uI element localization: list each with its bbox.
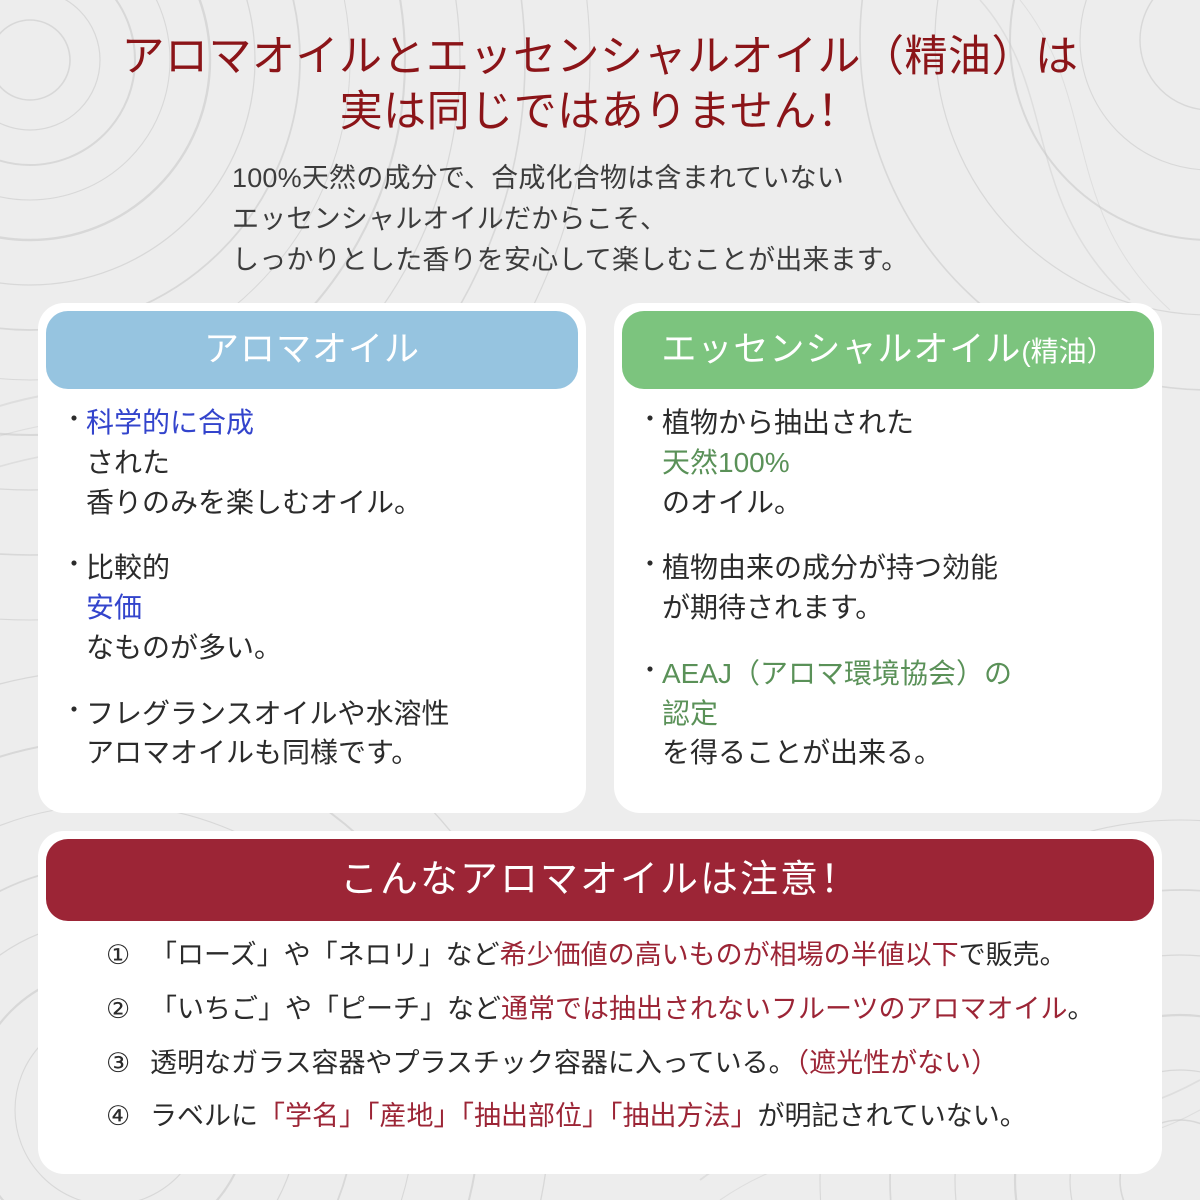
- plain-text: アロマオイルも同様です。: [86, 733, 568, 773]
- bullet-item: ・AEAJ（アロマ環境協会）の認定を得ることが出来る。: [638, 654, 1144, 773]
- bullet-marker-icon: ・: [62, 403, 86, 437]
- page-title-line2: 実は同じではありません！: [0, 85, 1200, 140]
- lead-line-1: 100%天然の成分で、合成化合物は含まれていない: [232, 158, 1200, 199]
- card-aroma-oil-bullets: ・科学的に合成された香りのみを楽しむオイル。・比較的安価なものが多い。・フレグラ…: [46, 389, 578, 773]
- bullet-item: ・科学的に合成された香りのみを楽しむオイル。: [62, 403, 568, 522]
- bullet-text: AEAJ（アロマ環境協会）の認定を得ることが出来る。: [662, 654, 1144, 773]
- highlight-text: 「学名」「産地」「抽出部位」「抽出方法」: [258, 1101, 758, 1131]
- card-essential-oil-bullets: ・植物から抽出された天然100%のオイル。・植物由来の成分が持つ効能が期待されま…: [622, 389, 1154, 773]
- plain-text: 透明なガラス容器やプラスチック容器に入っている。: [150, 1048, 796, 1078]
- card-essential-oil-header: エッセンシャルオイル(精油）: [622, 311, 1154, 389]
- highlight-text: AEAJ（アロマ環境協会）の: [662, 654, 1144, 694]
- plain-text: された: [86, 443, 568, 483]
- card-aroma-oil-header: アロマオイル: [46, 311, 578, 389]
- card-essential-oil-header-sub: (精油）: [1021, 336, 1114, 367]
- bullet-item: ・植物由来の成分が持つ効能が期待されます。: [638, 548, 1144, 628]
- bullet-text: フレグランスオイルや水溶性アロマオイルも同様です。: [86, 694, 568, 774]
- plain-text: を得ることが出来る。: [662, 733, 1144, 773]
- bullet-marker-icon: ・: [638, 548, 662, 582]
- bullet-item: ・フレグランスオイルや水溶性アロマオイルも同様です。: [62, 694, 568, 774]
- highlight-text: 安価: [86, 588, 568, 628]
- plain-text: なものが多い。: [86, 628, 568, 668]
- bullet-text-line: 植物由来の成分が持つ効能: [662, 548, 1144, 588]
- warning-item-number: ③: [106, 1047, 150, 1081]
- plain-text: 植物から抽出された: [662, 403, 1144, 443]
- bullet-text-line: AEAJ（アロマ環境協会）の: [662, 654, 1144, 694]
- bullet-text-line: 香りのみを楽しむオイル。: [86, 483, 568, 523]
- warning-list-item: ③透明なガラス容器やプラスチック容器に入っている。（遮光性がない）: [106, 1047, 1128, 1081]
- warning-panel-header: こんなアロマオイルは注意！: [46, 839, 1154, 921]
- warning-list: ①「ローズ」や「ネロリ」など希少価値の高いものが相場の半値以下で販売。②「いちご…: [46, 921, 1154, 1134]
- plain-text: が明記されていない。: [758, 1101, 1027, 1131]
- bullet-text-line: アロマオイルも同様です。: [86, 733, 568, 773]
- warning-item-number: ②: [106, 993, 150, 1027]
- card-essential-oil-header-label: エッセンシャルオイル: [661, 330, 1021, 369]
- plain-text: 香りのみを楽しむオイル。: [86, 483, 568, 523]
- bullet-text: 植物から抽出された天然100%のオイル。: [662, 403, 1144, 522]
- bullet-text-line: 天然100%のオイル。: [662, 443, 1144, 523]
- card-essential-oil: エッセンシャルオイル(精油） ・植物から抽出された天然100%のオイル。・植物由…: [614, 303, 1162, 813]
- lead-line-3: しっかりとした香りを安心して楽しむことが出来ます。: [232, 240, 1200, 281]
- warning-item-text: ラベルに「学名」「産地」「抽出部位」「抽出方法」が明記されていない。: [150, 1100, 1027, 1134]
- bullet-text-line: が期待されます。: [662, 588, 1144, 628]
- warning-panel: こんなアロマオイルは注意！ ①「ローズ」や「ネロリ」など希少価値の高いものが相場…: [38, 831, 1162, 1174]
- bullet-item: ・比較的安価なものが多い。: [62, 548, 568, 667]
- plain-text: ラベルに: [150, 1101, 258, 1131]
- bullet-marker-icon: ・: [638, 654, 662, 688]
- plain-text: で販売。: [959, 940, 1067, 970]
- plain-text: 比較的: [86, 548, 568, 588]
- highlight-text: 認定: [662, 694, 1144, 734]
- plain-text: 植物由来の成分が持つ効能: [662, 548, 1144, 588]
- bullet-text-line: フレグランスオイルや水溶性: [86, 694, 568, 734]
- bullet-text-line: 科学的に合成された: [86, 403, 568, 483]
- page-title-line1: アロマオイルとエッセンシャルオイル（精油）は: [122, 34, 1079, 81]
- plain-text: 「ローズ」や「ネロリ」など: [150, 940, 500, 970]
- infographic-page: アロマオイルとエッセンシャルオイル（精油）は 実は同じではありません！ 100%…: [0, 0, 1200, 1200]
- highlight-text: 希少価値の高いものが相場の半値以下: [500, 940, 959, 970]
- comparison-cards: アロマオイル ・科学的に合成された香りのみを楽しむオイル。・比較的安価なものが多…: [0, 303, 1200, 813]
- bullet-text: 比較的安価なものが多い。: [86, 548, 568, 667]
- lead-paragraph: 100%天然の成分で、合成化合物は含まれていない エッセンシャルオイルだからこそ…: [0, 158, 1200, 281]
- bullet-text-line: 植物から抽出された: [662, 403, 1144, 443]
- page-title: アロマオイルとエッセンシャルオイル（精油）は 実は同じではありません！: [0, 0, 1200, 140]
- card-aroma-oil: アロマオイル ・科学的に合成された香りのみを楽しむオイル。・比較的安価なものが多…: [38, 303, 586, 813]
- warning-list-item: ②「いちご」や「ピーチ」など通常では抽出されないフルーツのアロマオイル。: [106, 993, 1128, 1027]
- bullet-text-line: 比較的安価なものが多い。: [86, 548, 568, 667]
- warning-list-item: ④ラベルに「学名」「産地」「抽出部位」「抽出方法」が明記されていない。: [106, 1100, 1128, 1134]
- warning-item-number: ④: [106, 1100, 150, 1134]
- highlight-text: 天然100%: [662, 443, 1144, 483]
- warning-item-text: 「いちご」や「ピーチ」など通常では抽出されないフルーツのアロマオイル。: [150, 993, 1094, 1027]
- highlight-text: 通常では抽出されないフルーツのアロマオイル: [501, 994, 1067, 1024]
- highlight-text: （遮光性がない）: [796, 1048, 999, 1078]
- plain-text: のオイル。: [662, 483, 1144, 523]
- plain-text: 。: [1067, 994, 1094, 1024]
- plain-text: フレグランスオイルや水溶性: [86, 694, 568, 734]
- bullet-text: 科学的に合成された香りのみを楽しむオイル。: [86, 403, 568, 522]
- card-aroma-oil-header-label: アロマオイル: [204, 330, 420, 369]
- plain-text: が期待されます。: [662, 588, 1144, 628]
- bullet-marker-icon: ・: [62, 548, 86, 582]
- warning-item-text: 「ローズ」や「ネロリ」など希少価値の高いものが相場の半値以下で販売。: [150, 939, 1067, 973]
- bullet-text: 植物由来の成分が持つ効能が期待されます。: [662, 548, 1144, 628]
- warning-list-item: ①「ローズ」や「ネロリ」など希少価値の高いものが相場の半値以下で販売。: [106, 939, 1128, 973]
- warning-item-number: ①: [106, 939, 150, 973]
- bullet-item: ・植物から抽出された天然100%のオイル。: [638, 403, 1144, 522]
- bullet-marker-icon: ・: [62, 694, 86, 728]
- plain-text: 「いちご」や「ピーチ」など: [150, 994, 501, 1024]
- highlight-text: 科学的に合成: [86, 403, 568, 443]
- warning-item-text: 透明なガラス容器やプラスチック容器に入っている。（遮光性がない）: [150, 1047, 998, 1081]
- bullet-text-line: 認定を得ることが出来る。: [662, 694, 1144, 774]
- lead-line-2: エッセンシャルオイルだからこそ、: [232, 199, 1200, 240]
- bullet-marker-icon: ・: [638, 403, 662, 437]
